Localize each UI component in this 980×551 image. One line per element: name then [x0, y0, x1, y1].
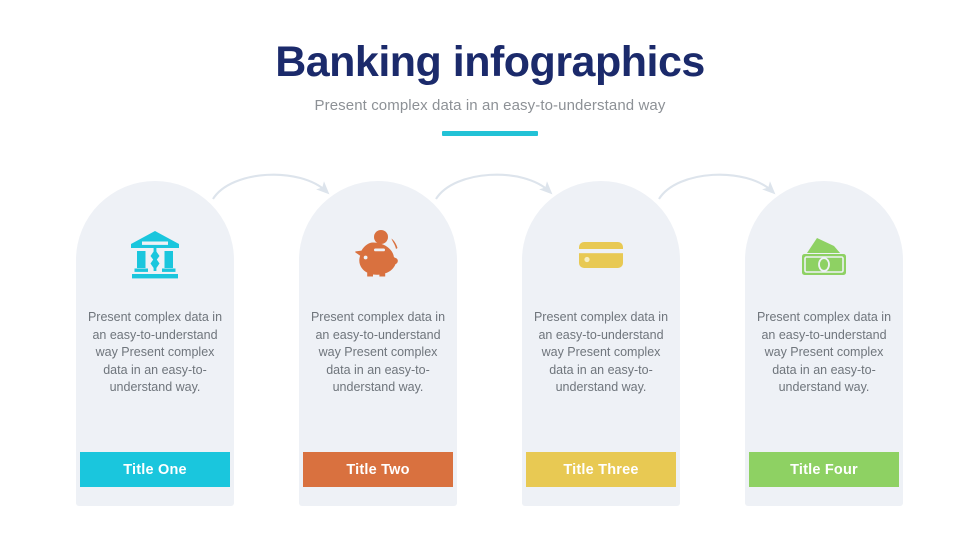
page-subtitle: Present complex data in an easy-to-under… [0, 97, 980, 114]
card-body-text: Present complex data in an easy-to-under… [753, 309, 895, 397]
infographic-slide: Banking infographics Present complex dat… [0, 0, 980, 551]
card-button-label: Title Two [346, 462, 409, 478]
title-underline-accent [442, 131, 538, 136]
piggy-bank-icon [351, 227, 405, 281]
card-body-text: Present complex data in an easy-to-under… [307, 309, 449, 397]
page-title: Banking infographics [0, 38, 980, 86]
card-button-label: Title One [123, 462, 187, 478]
card-body-text: Present complex data in an easy-to-under… [84, 309, 226, 397]
card-body-text: Present complex data in an easy-to-under… [530, 309, 672, 397]
card-button-title-two[interactable]: Title Two [303, 452, 453, 487]
slide-header: Banking infographics Present complex dat… [0, 38, 980, 136]
card-row: Present complex data in an easy-to-under… [0, 181, 980, 511]
card-button-label: Title Three [563, 462, 638, 478]
card-title-four[interactable]: Present complex data in an easy-to-under… [745, 181, 903, 506]
card-button-title-three[interactable]: Title Three [526, 452, 676, 487]
bank-building-icon [128, 227, 182, 281]
card-title-two[interactable]: Present complex data in an easy-to-under… [299, 181, 457, 506]
card-title-three[interactable]: Present complex data in an easy-to-under… [522, 181, 680, 506]
money-cash-icon [796, 227, 852, 281]
card-button-title-four[interactable]: Title Four [749, 452, 899, 487]
card-title-one[interactable]: Present complex data in an easy-to-under… [76, 181, 234, 506]
credit-card-icon [574, 227, 628, 281]
card-button-title-one[interactable]: Title One [80, 452, 230, 487]
card-button-label: Title Four [790, 462, 858, 478]
